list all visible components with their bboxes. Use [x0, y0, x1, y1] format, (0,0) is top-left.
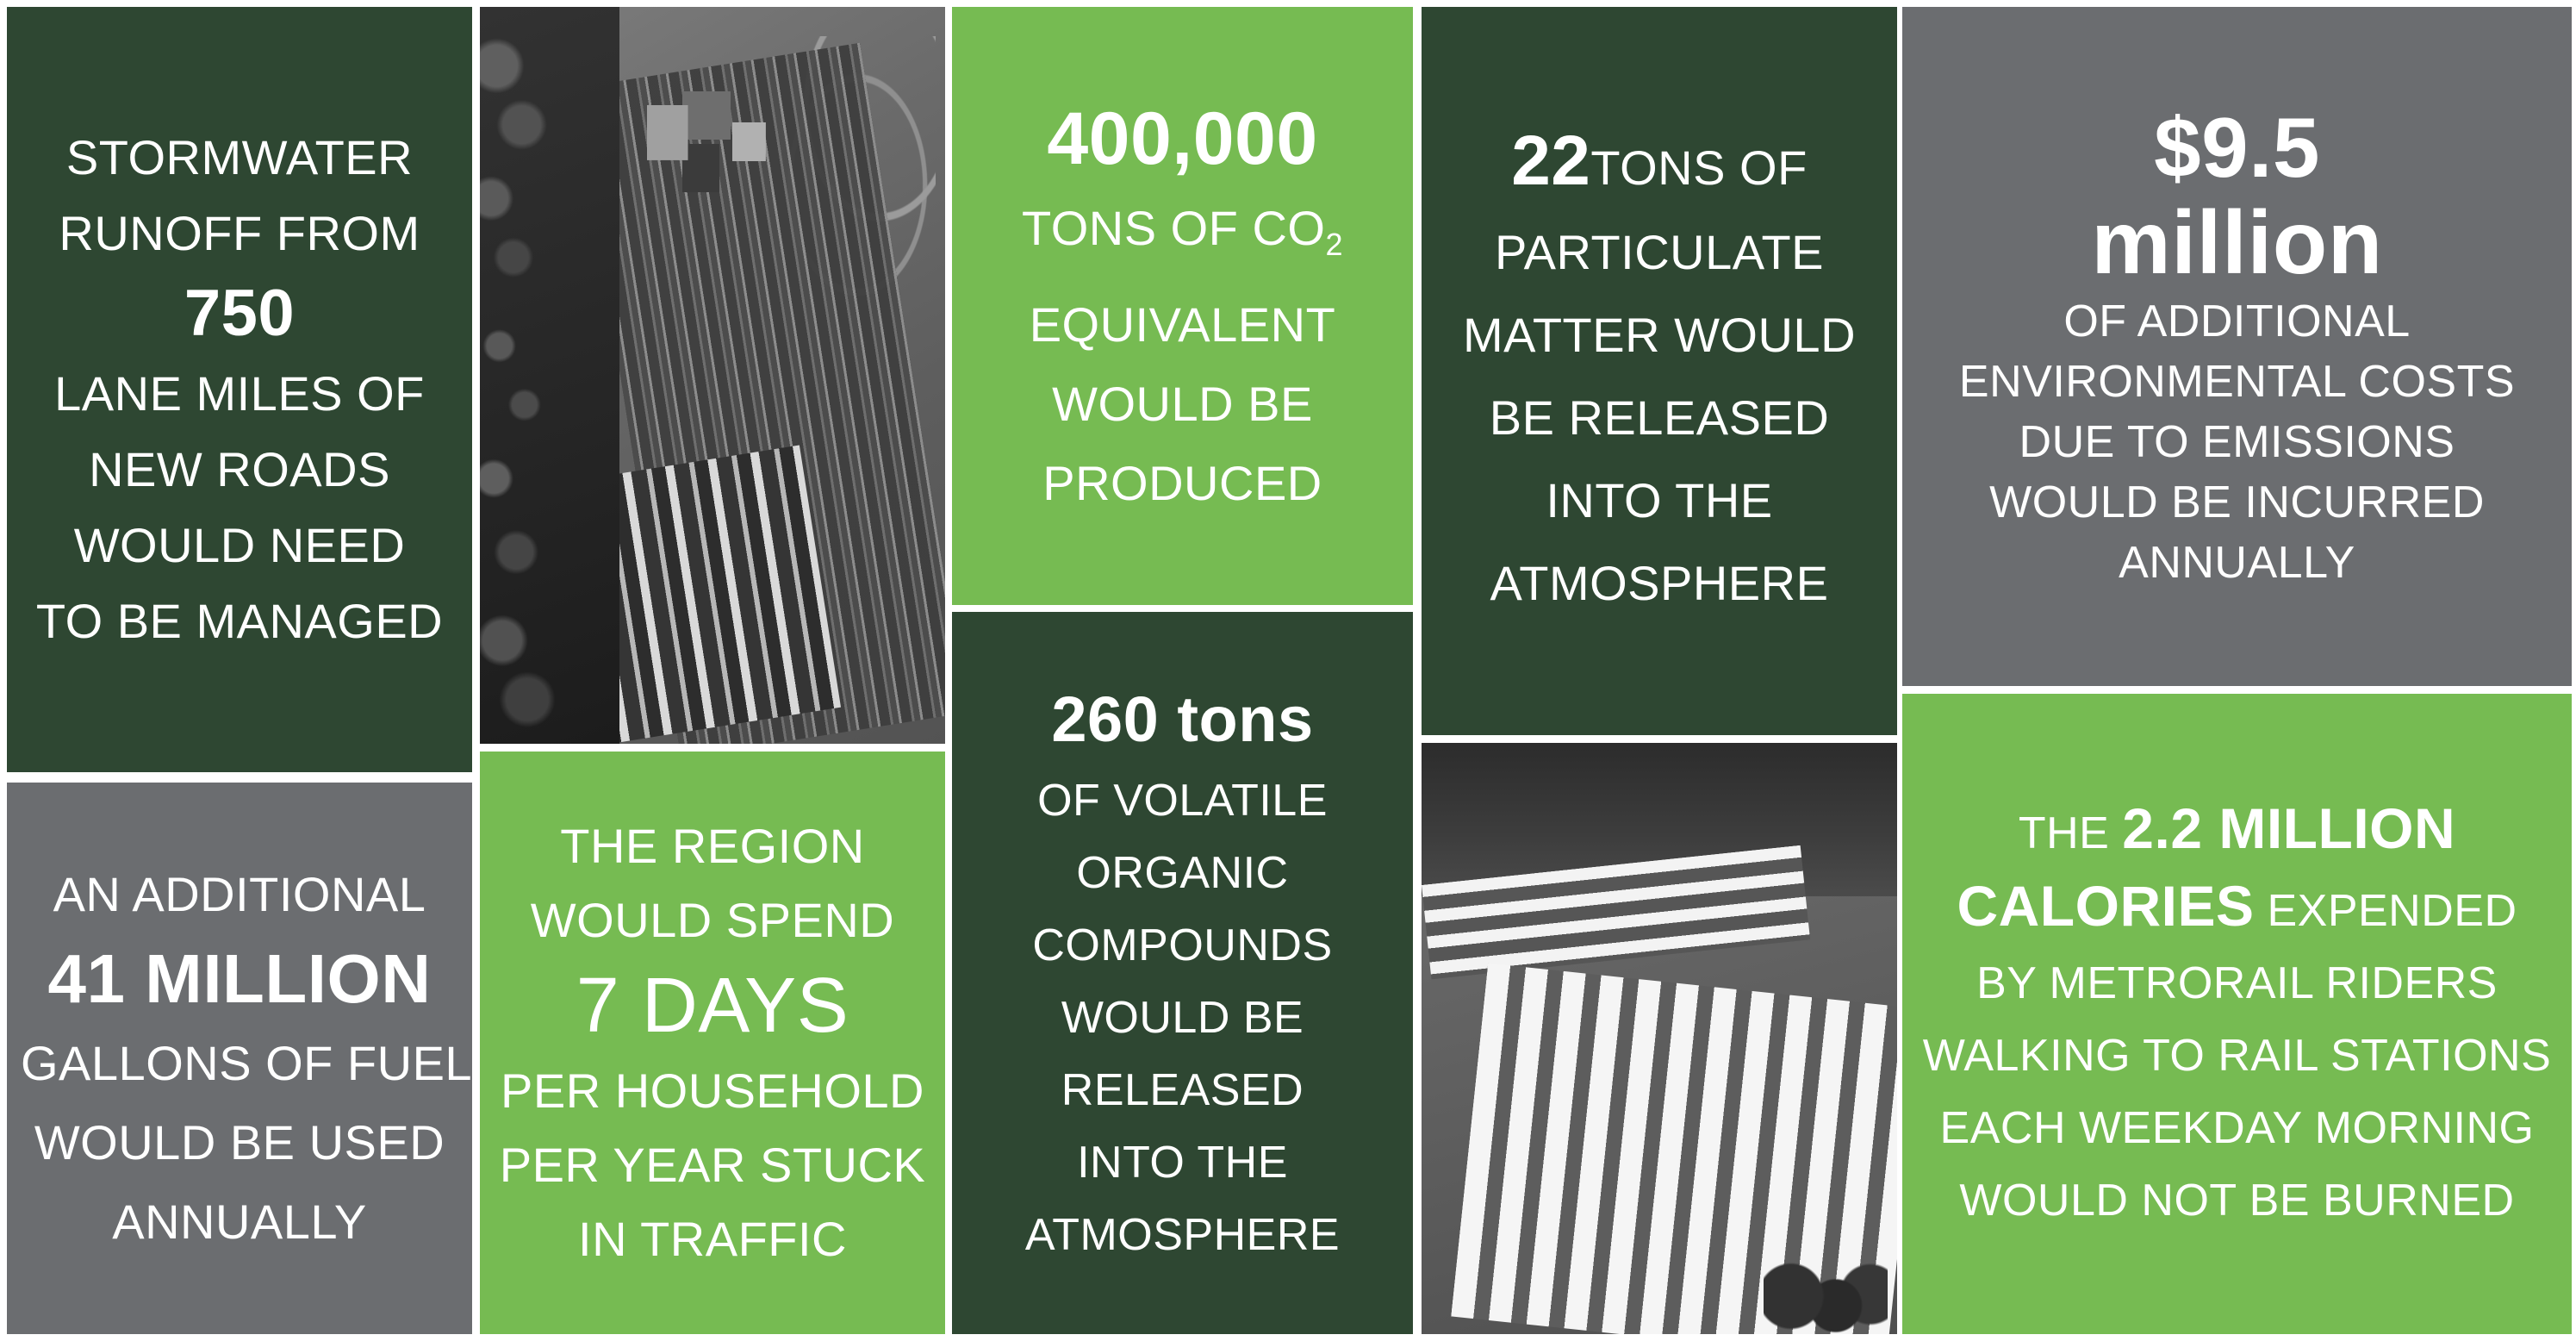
panel-line: ANNUALLY [21, 1182, 458, 1262]
calories-keyword: CALORIES [1957, 874, 2254, 938]
panel-line: WOULD BE INCURRED [1918, 472, 2556, 533]
particulate-matter-panel: 22TONS OF PARTICULATE MATTER WOULD BE RE… [1422, 7, 1897, 735]
panel-line: COMPOUNDS [964, 909, 1401, 982]
panel-stat-value: 22 [1511, 122, 1590, 200]
infographic-board: STORMWATER RUNOFF FROM 750 LANE MILES OF… [0, 0, 2576, 1341]
panel-line: ATMOSPHERE [1435, 542, 1883, 625]
panel-stat-unit: million [1918, 195, 2556, 291]
panel-line: TO BE MANAGED [28, 583, 451, 659]
co2-label-text: TONS OF CO [1022, 201, 1325, 255]
bus-depot-aerial-photo [1422, 743, 1897, 1334]
panel-line: PARTICULATE [1435, 211, 1883, 294]
panel-line: OF ADDITIONAL [1918, 291, 2556, 352]
panel-stat-value: 7 DAYS [495, 957, 930, 1054]
panel-stat-line: CALORIES EXPENDED [1918, 870, 2556, 947]
panel-line: WOULD NEED [28, 508, 451, 583]
volatile-organic-compounds-panel: 260 tons OF VOLATILE ORGANIC COMPOUNDS W… [952, 612, 1413, 1334]
panel-line: NEW ROADS [28, 432, 451, 508]
panel-line: WOULD NOT BE BURNED [1918, 1164, 2556, 1237]
panel-line: LANE MILES OF [28, 356, 451, 432]
panel-line: OF VOLATILE [964, 764, 1401, 837]
panel-line: STORMWATER [28, 120, 451, 196]
photo-buildings [638, 73, 824, 235]
panel-line: AN ADDITIONAL [21, 855, 458, 934]
panel-line: WOULD BE [968, 365, 1397, 444]
photo-trees [1764, 1239, 1888, 1334]
photo-trees [480, 7, 619, 744]
panel-line: WOULD BE USED [21, 1103, 458, 1182]
co2-subscript: 2 [1325, 228, 1343, 263]
panel-stat-unit: TONS OF [1590, 140, 1807, 195]
panel-stat-value: $9.5 [1918, 100, 2556, 195]
panel-line: IN TRAFFIC [495, 1202, 930, 1276]
panel-line: EQUIVALENT [968, 285, 1397, 365]
panel-stat-value: 750 [28, 271, 451, 356]
environmental-cost-panel: $9.5 million OF ADDITIONAL ENVIRONMENTAL… [1902, 7, 2572, 686]
panel-line: INTO THE [964, 1126, 1401, 1199]
panel-line: BE RELEASED [1435, 377, 1883, 459]
traffic-days-panel: THE REGION WOULD SPEND 7 DAYS PER HOUSEH… [480, 752, 945, 1334]
panel-stat-value: 260 tons [964, 675, 1401, 764]
panel-line: MATTER WOULD [1435, 294, 1883, 377]
panel-line: EACH WEEKDAY MORNING [1918, 1092, 2556, 1164]
panel-line: ENVIRONMENTAL COSTS [1918, 352, 2556, 412]
calories-burned-panel: THE 2.2 MILLION CALORIES EXPENDED BY MET… [1902, 694, 2572, 1334]
calories-suffix: EXPENDED [2255, 886, 2517, 936]
panel-line: RELEASED [964, 1054, 1401, 1126]
panel-line: TONS OF CO2 [968, 189, 1397, 284]
panel-line: THE REGION [495, 809, 930, 883]
panel-stat-line: THE 2.2 MILLION [1918, 792, 2556, 870]
photo-content [1422, 743, 1897, 1334]
co2-emissions-panel: 400,000 TONS OF CO2 EQUIVALENT WOULD BE … [952, 7, 1413, 605]
fuel-gallons-panel: AN ADDITIONAL 41 MILLION GALLONS OF FUEL… [7, 783, 472, 1334]
panel-line: PER YEAR STUCK [495, 1128, 930, 1202]
panel-stat-value: 400,000 [968, 89, 1397, 189]
panel-line: ATMOSPHERE [964, 1199, 1401, 1271]
panel-line: INTO THE [1435, 459, 1883, 542]
panel-line: DUE TO EMISSIONS [1918, 412, 2556, 472]
panel-line: WALKING TO RAIL STATIONS [1918, 1020, 2556, 1092]
stormwater-runoff-panel: STORMWATER RUNOFF FROM 750 LANE MILES OF… [7, 7, 472, 772]
panel-line: ANNUALLY [1918, 533, 2556, 593]
panel-line: RUNOFF FROM [28, 196, 451, 271]
photo-content [480, 7, 945, 744]
panel-stat-line: 22TONS OF [1435, 118, 1883, 211]
panel-stat-value: 41 MILLION [21, 934, 458, 1024]
panel-line: WOULD BE [964, 982, 1401, 1054]
panel-line: WOULD SPEND [495, 883, 930, 957]
calories-prefix: THE [2019, 808, 2122, 858]
panel-line: PRODUCED [968, 444, 1397, 523]
panel-line: ORGANIC [964, 837, 1401, 909]
panel-line: PER HOUSEHOLD [495, 1054, 930, 1128]
panel-stat-value: 2.2 MILLION [2122, 796, 2455, 860]
panel-line: GALLONS OF FUEL [21, 1024, 458, 1103]
panel-line: BY METRORAIL RIDERS [1918, 947, 2556, 1020]
rail-yard-aerial-photo [480, 7, 945, 744]
